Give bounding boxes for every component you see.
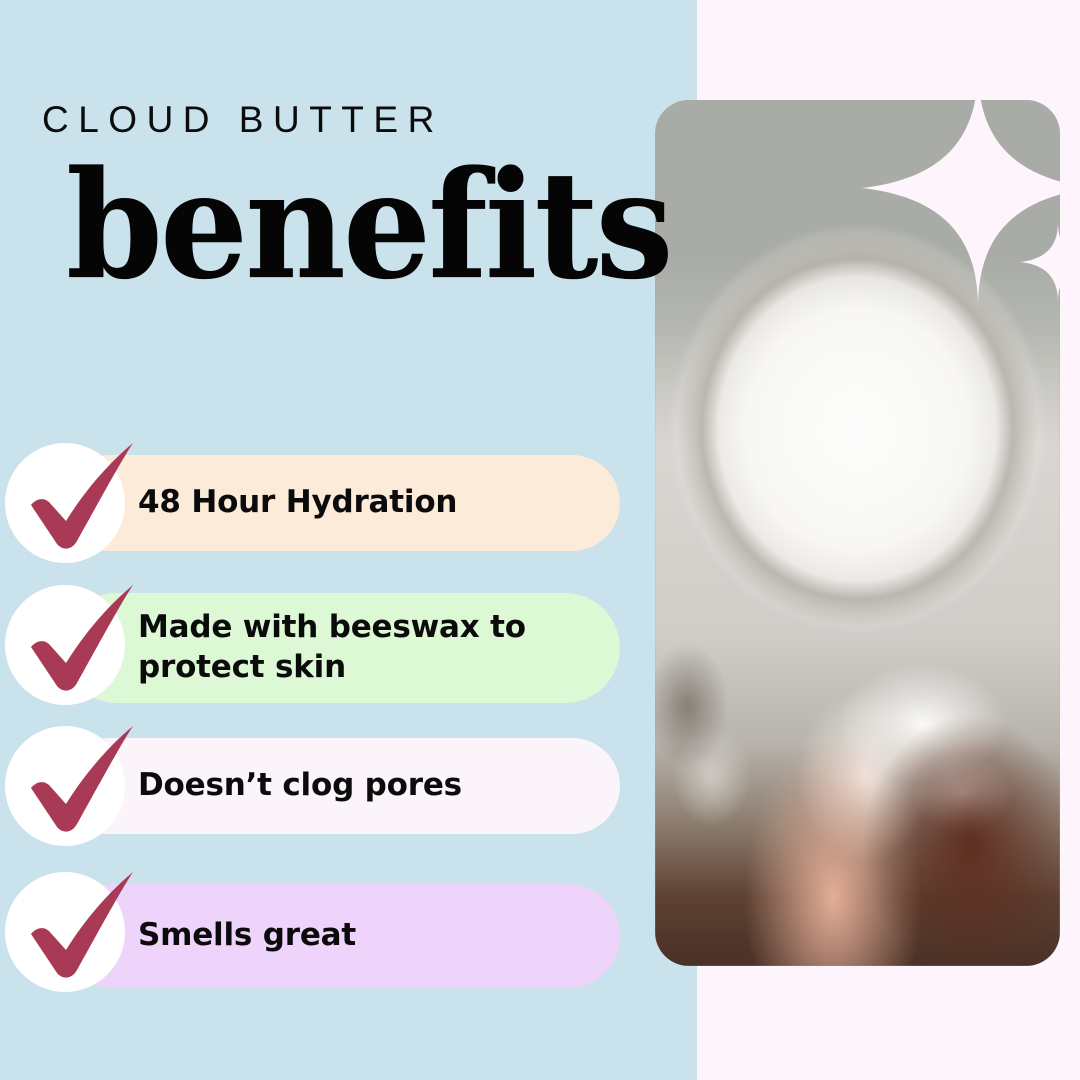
benefit-pill: 48 Hour Hydration [62, 455, 620, 551]
benefit-check-badge [5, 585, 125, 705]
benefit-label: Doesn’t clog pores [138, 766, 462, 806]
check-mark-icon [3, 427, 143, 567]
benefit-pill: Smells great [62, 884, 620, 988]
benefit-pill: Made with beeswax to protect skin [62, 593, 620, 703]
benefit-check-badge [5, 872, 125, 992]
check-mark-icon [3, 569, 143, 709]
benefit-pill: Doesn’t clog pores [62, 738, 620, 834]
benefits-list: 48 Hour Hydration Made with beeswax to p… [0, 0, 697, 1080]
benefit-check-badge [5, 443, 125, 563]
benefit-label: Smells great [138, 916, 356, 956]
benefit-check-badge [5, 726, 125, 846]
check-mark-icon [3, 856, 143, 996]
check-mark-icon [3, 710, 143, 850]
poster-canvas: CLOUD BUTTER benefits 48 Hour Hydration … [0, 0, 1080, 1080]
sparkle-small-icon [1020, 222, 1080, 302]
benefit-label: Made with beeswax to protect skin [138, 608, 596, 687]
benefit-label: 48 Hour Hydration [138, 483, 457, 523]
